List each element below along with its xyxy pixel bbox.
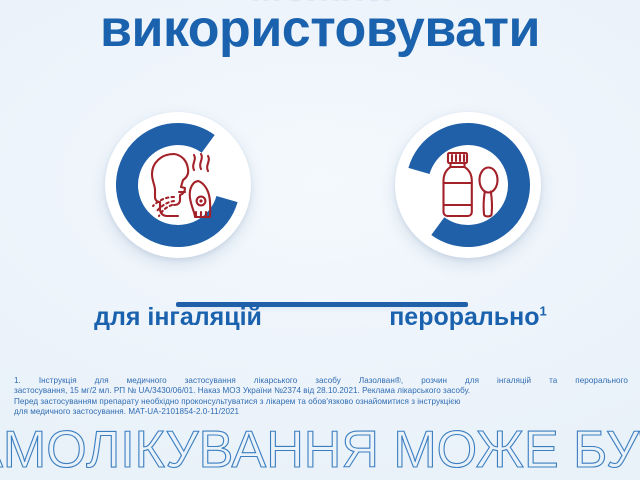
footnote-block: 1. Інструкція для медичного застосування… — [14, 376, 628, 417]
administration-routes-row — [0, 112, 640, 277]
advertisement-slide: можна використовувати — [0, 0, 640, 480]
caption-oral-label: перорально — [389, 303, 539, 331]
caption-inhalation-label: для інгаляцій — [94, 303, 262, 331]
caption-inhalation: для інгаляцій — [28, 303, 328, 332]
footnote-line-1: 1. Інструкція для медичного застосування… — [14, 376, 628, 386]
caption-oral-footnote-marker: 1 — [540, 304, 547, 319]
footnote-line-3: Перед застосуванням препарату необхідно … — [14, 397, 628, 407]
caption-oral: перорально1 — [318, 303, 618, 332]
footnote-line-4: для медичного застосування. MAT-UA-21018… — [14, 407, 628, 417]
option-node-oral[interactable] — [395, 112, 541, 258]
footnote-line-2: застосування, 15 мг/2 мл. РП № UA/3430/0… — [14, 386, 628, 396]
page-title: використовувати — [0, 2, 640, 57]
warning-banner-text: САМОЛІКУВАННЯ МОЖЕ БУТИ — [0, 430, 640, 476]
headline-area: можна використовувати — [0, 0, 640, 88]
bottle-and-spoon-icon — [428, 145, 508, 225]
warning-banner-area: САМОЛІКУВАННЯ МОЖЕ БУТИ — [0, 430, 640, 480]
head-inhalation-icon — [138, 145, 218, 225]
option-node-inhalation[interactable] — [105, 112, 251, 258]
